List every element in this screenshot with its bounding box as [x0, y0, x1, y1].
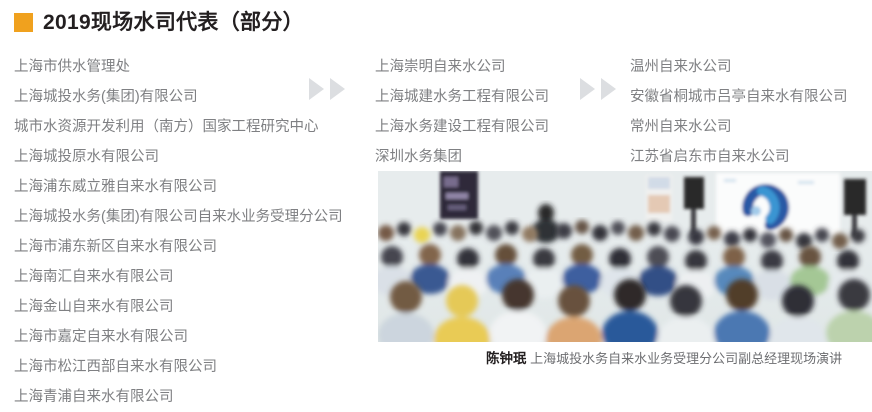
arrow-separator-2	[580, 78, 616, 100]
list-item: 安徽省桐城市吕亭自来水有限公司	[630, 82, 870, 112]
photo-caption: 陈钟珉 上海城投水务自来水业务受理分公司副总经理现场演讲	[486, 350, 842, 368]
list-item: 上海水务建设工程有限公司	[375, 112, 575, 142]
caption-speaker-description: 上海城投水务自来水业务受理分公司副总经理现场演讲	[527, 351, 843, 366]
page-header: 2019现场水司代表（部分）	[14, 12, 304, 33]
orange-square-bullet-icon	[14, 13, 33, 32]
list-item: 上海南汇自来水有限公司	[14, 262, 314, 292]
list-item: 上海城建水务工程有限公司	[375, 82, 575, 112]
list-item: 城市水资源开发利用（南方）国家工程研究中心	[14, 112, 314, 142]
org-list-column-3: 温州自来水公司 安徽省桐城市吕亭自来水有限公司 常州自来水公司 江苏省启东市自来…	[630, 52, 870, 172]
triangle-right-icon	[601, 78, 616, 100]
page-title: 2019现场水司代表（部分）	[43, 12, 304, 33]
org-list-column-1: 上海市供水管理处 上海城投水务(集团)有限公司 城市水资源开发利用（南方）国家工…	[14, 52, 314, 412]
list-item: 上海市浦东新区自来水有限公司	[14, 232, 314, 262]
list-item: 常州自来水公司	[630, 112, 870, 142]
list-item: 上海市松江西部自来水有限公司	[14, 352, 314, 382]
list-item: 上海市供水管理处	[14, 52, 314, 82]
list-item: 深圳水务集团	[375, 142, 575, 172]
triangle-right-icon	[580, 78, 595, 100]
list-item: 上海浦东威立雅自来水有限公司	[14, 172, 314, 202]
list-item: 上海金山自来水有限公司	[14, 292, 314, 322]
list-item: 温州自来水公司	[630, 52, 870, 82]
list-item: 上海崇明自来水公司	[375, 52, 575, 82]
conference-photo	[378, 171, 872, 342]
arrow-separator-1	[309, 78, 345, 100]
list-item: 上海城投水务(集团)有限公司自来水业务受理分公司	[14, 202, 314, 232]
list-item: 上海市嘉定自来水有限公司	[14, 322, 314, 352]
org-list-column-2: 上海崇明自来水公司 上海城建水务工程有限公司 上海水务建设工程有限公司 深圳水务…	[375, 52, 575, 172]
triangle-right-icon	[309, 78, 324, 100]
triangle-right-icon	[330, 78, 345, 100]
conference-audience-photo	[378, 171, 872, 342]
caption-speaker-name: 陈钟珉	[486, 351, 527, 366]
list-item: 上海青浦自来水有限公司	[14, 382, 314, 412]
list-item: 上海城投原水有限公司	[14, 142, 314, 172]
list-item: 上海城投水务(集团)有限公司	[14, 82, 314, 112]
list-item: 江苏省启东市自来水公司	[630, 142, 870, 172]
